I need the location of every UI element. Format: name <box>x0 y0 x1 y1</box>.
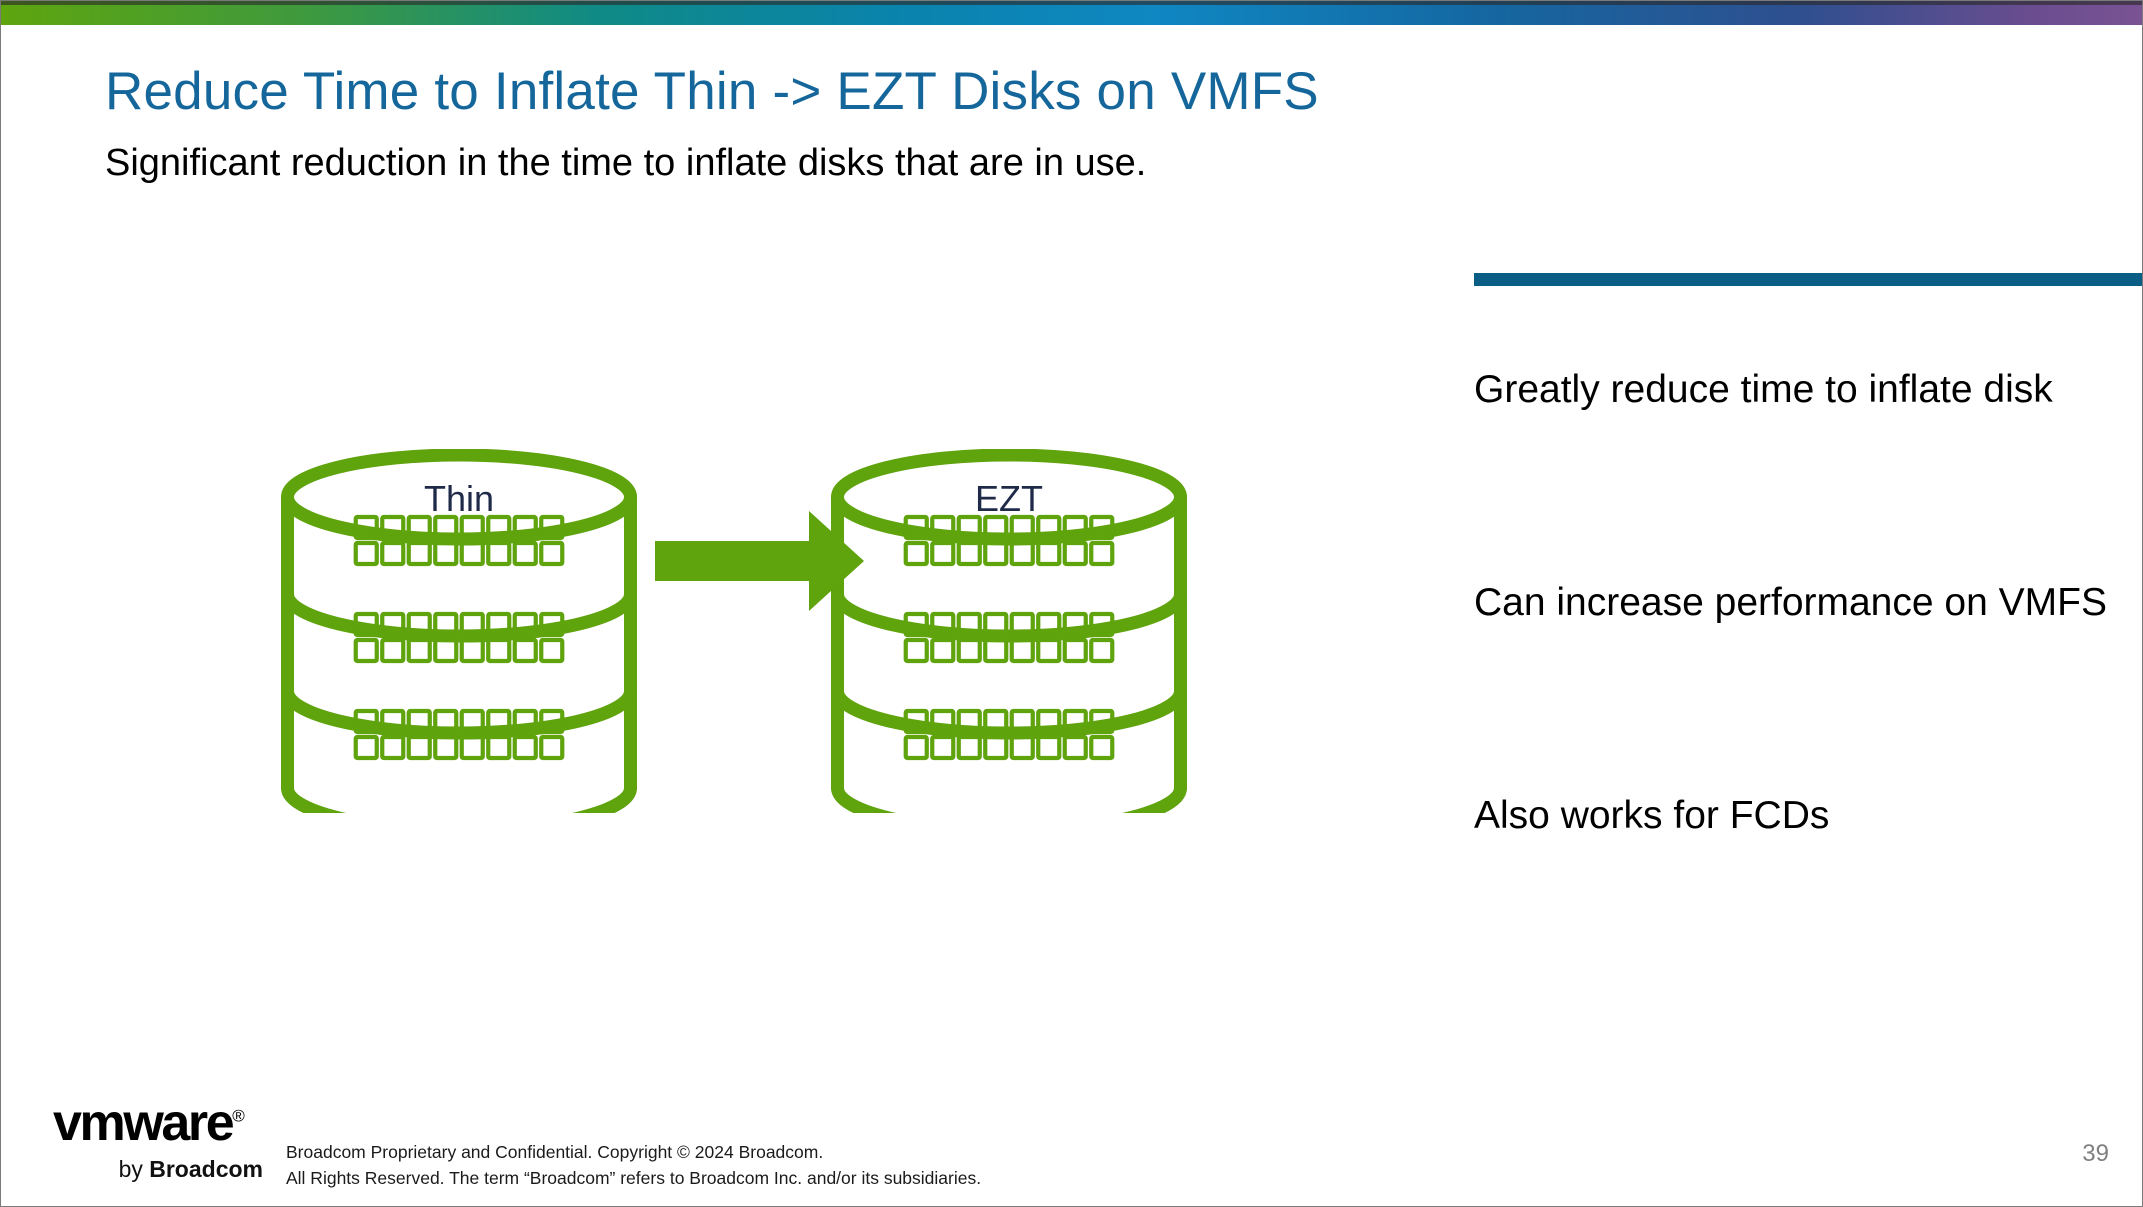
disk-block <box>382 737 403 758</box>
disk-block <box>1012 640 1033 661</box>
disk-block <box>1012 543 1033 564</box>
vmware-wordmark: vmware® <box>53 1097 245 1149</box>
disk-block <box>488 737 509 758</box>
disk-block <box>356 543 377 564</box>
disk-block <box>959 640 980 661</box>
disk-block <box>462 543 483 564</box>
disk-block <box>959 543 980 564</box>
disk-block <box>906 640 927 661</box>
slide-subtitle: Significant reduction in the time to inf… <box>105 142 1146 185</box>
disk-block <box>1038 543 1059 564</box>
copyright-line-1: Broadcom Proprietary and Confidential. C… <box>286 1140 981 1166</box>
rail-bullet-1: Can increase performance on VMFS <box>1474 578 2114 629</box>
disk-block <box>488 640 509 661</box>
disk-block <box>409 543 430 564</box>
disk-block <box>435 640 456 661</box>
disk-block <box>515 737 536 758</box>
page-number: 39 <box>2082 1140 2109 1168</box>
disk-block <box>1091 640 1112 661</box>
disk-block <box>1038 737 1059 758</box>
disk-block <box>409 640 430 661</box>
disk-block <box>906 543 927 564</box>
disk-block <box>1038 640 1059 661</box>
disk-block <box>959 737 980 758</box>
disk-block <box>356 737 377 758</box>
disk-block <box>1091 543 1112 564</box>
disk-block <box>1012 737 1033 758</box>
disk-block <box>488 543 509 564</box>
disk-block <box>515 543 536 564</box>
disk-block <box>1065 640 1086 661</box>
slide-canvas: Reduce Time to Inflate Thin -> EZT Disks… <box>0 0 2143 1207</box>
disk-block <box>1065 543 1086 564</box>
copyright-notice: Broadcom Proprietary and Confidential. C… <box>286 1140 981 1192</box>
top-accent-bar-shadow <box>1 1 2143 5</box>
disk-block <box>435 543 456 564</box>
disk-block <box>932 640 953 661</box>
registered-trademark-icon: ® <box>232 1107 245 1126</box>
disk-block <box>932 737 953 758</box>
rail-bullet-0: Greatly reduce time to inflate disk <box>1474 365 2114 416</box>
disk-block <box>906 737 927 758</box>
disk-block <box>382 543 403 564</box>
disk-block <box>382 640 403 661</box>
thin-to-ezt-diagram: Thin EZT <box>281 449 1241 813</box>
disk-block <box>1065 737 1086 758</box>
disk-block <box>462 737 483 758</box>
vmware-wordmark-text: vmware <box>53 1094 232 1152</box>
disk-block <box>409 737 430 758</box>
disk-block <box>985 543 1006 564</box>
by-broadcom-lockup: by Broadcom <box>53 1158 263 1181</box>
disk-block <box>356 640 377 661</box>
disk-block <box>985 640 1006 661</box>
right-rail-divider-rule <box>1474 273 2143 286</box>
disk-block <box>1091 737 1112 758</box>
broadcom-text: Broadcom <box>149 1156 263 1182</box>
slide-title: Reduce Time to Inflate Thin -> EZT Disks… <box>105 63 1319 120</box>
copyright-line-2: All Rights Reserved. The term “Broadcom”… <box>286 1166 981 1192</box>
rail-bullet-2: Also works for FCDs <box>1474 791 2114 842</box>
disk-block <box>541 543 562 564</box>
disk-block <box>985 737 1006 758</box>
disk-block <box>932 543 953 564</box>
disk-block <box>515 640 536 661</box>
by-text: by <box>119 1156 150 1182</box>
thin-cylinder-label: Thin <box>424 478 494 519</box>
vmware-broadcom-logo: vmware® by Broadcom <box>53 1097 273 1189</box>
disk-block <box>541 737 562 758</box>
disk-block <box>435 737 456 758</box>
disk-block <box>462 640 483 661</box>
ezt-cylinder-label: EZT <box>975 478 1043 519</box>
disk-block <box>541 640 562 661</box>
